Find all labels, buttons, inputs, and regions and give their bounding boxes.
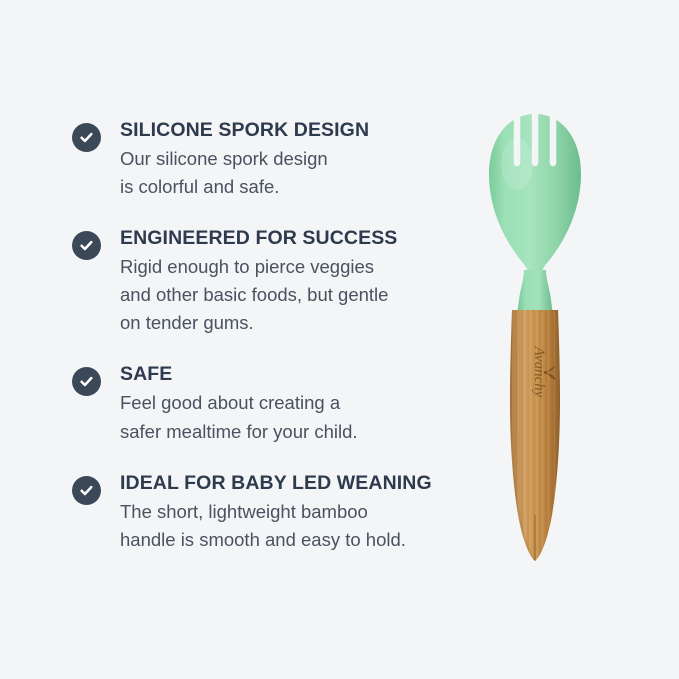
feature-description: Rigid enough to pierce veggies and other… — [120, 253, 467, 337]
feature-description-line: Our silicone spork design — [120, 145, 467, 173]
spork-handle-bamboo: Avanchy — [507, 305, 565, 565]
feature-description: Our silicone spork design is colorful an… — [120, 145, 467, 201]
feature-block-ideal-for-baby-led-weaning: IDEAL FOR BABY LED WEANING The short, li… — [72, 471, 467, 554]
feature-description-line: and other basic foods, but gentle — [120, 281, 467, 309]
check-circle-icon — [72, 231, 101, 260]
feature-description-line: is colorful and safe. — [120, 173, 467, 201]
feature-description-line: Feel good about creating a — [120, 389, 467, 417]
feature-list: SILICONE SPORK DESIGN Our silicone spork… — [72, 118, 467, 554]
feature-description-line: handle is smooth and easy to hold. — [120, 526, 467, 554]
feature-title: SAFE — [120, 362, 467, 387]
feature-title: SILICONE SPORK DESIGN — [120, 118, 467, 143]
feature-description: The short, lightweight bamboo handle is … — [120, 498, 467, 554]
feature-description-line: safer mealtime for your child. — [120, 418, 467, 446]
check-circle-icon — [72, 123, 101, 152]
feature-description-line: The short, lightweight bamboo — [120, 498, 467, 526]
check-circle-icon — [72, 476, 101, 505]
check-circle-icon — [72, 367, 101, 396]
feature-description-line: Rigid enough to pierce veggies — [120, 253, 467, 281]
feature-block-safe: SAFE Feel good about creating a safer me… — [72, 362, 467, 445]
product-photo-spork: Avanchy — [455, 100, 635, 580]
feature-description: Feel good about creating a safer mealtim… — [120, 389, 467, 445]
feature-description-line: on tender gums. — [120, 309, 467, 337]
feature-block-engineered-for-success: ENGINEERED FOR SUCCESS Rigid enough to p… — [72, 226, 467, 337]
feature-title: ENGINEERED FOR SUCCESS — [120, 226, 467, 251]
product-feature-infographic: SILICONE SPORK DESIGN Our silicone spork… — [0, 0, 679, 679]
spork-head-silicone — [489, 113, 581, 318]
feature-block-silicone-spork-design: SILICONE SPORK DESIGN Our silicone spork… — [72, 118, 467, 201]
feature-title: IDEAL FOR BABY LED WEANING — [120, 471, 467, 496]
